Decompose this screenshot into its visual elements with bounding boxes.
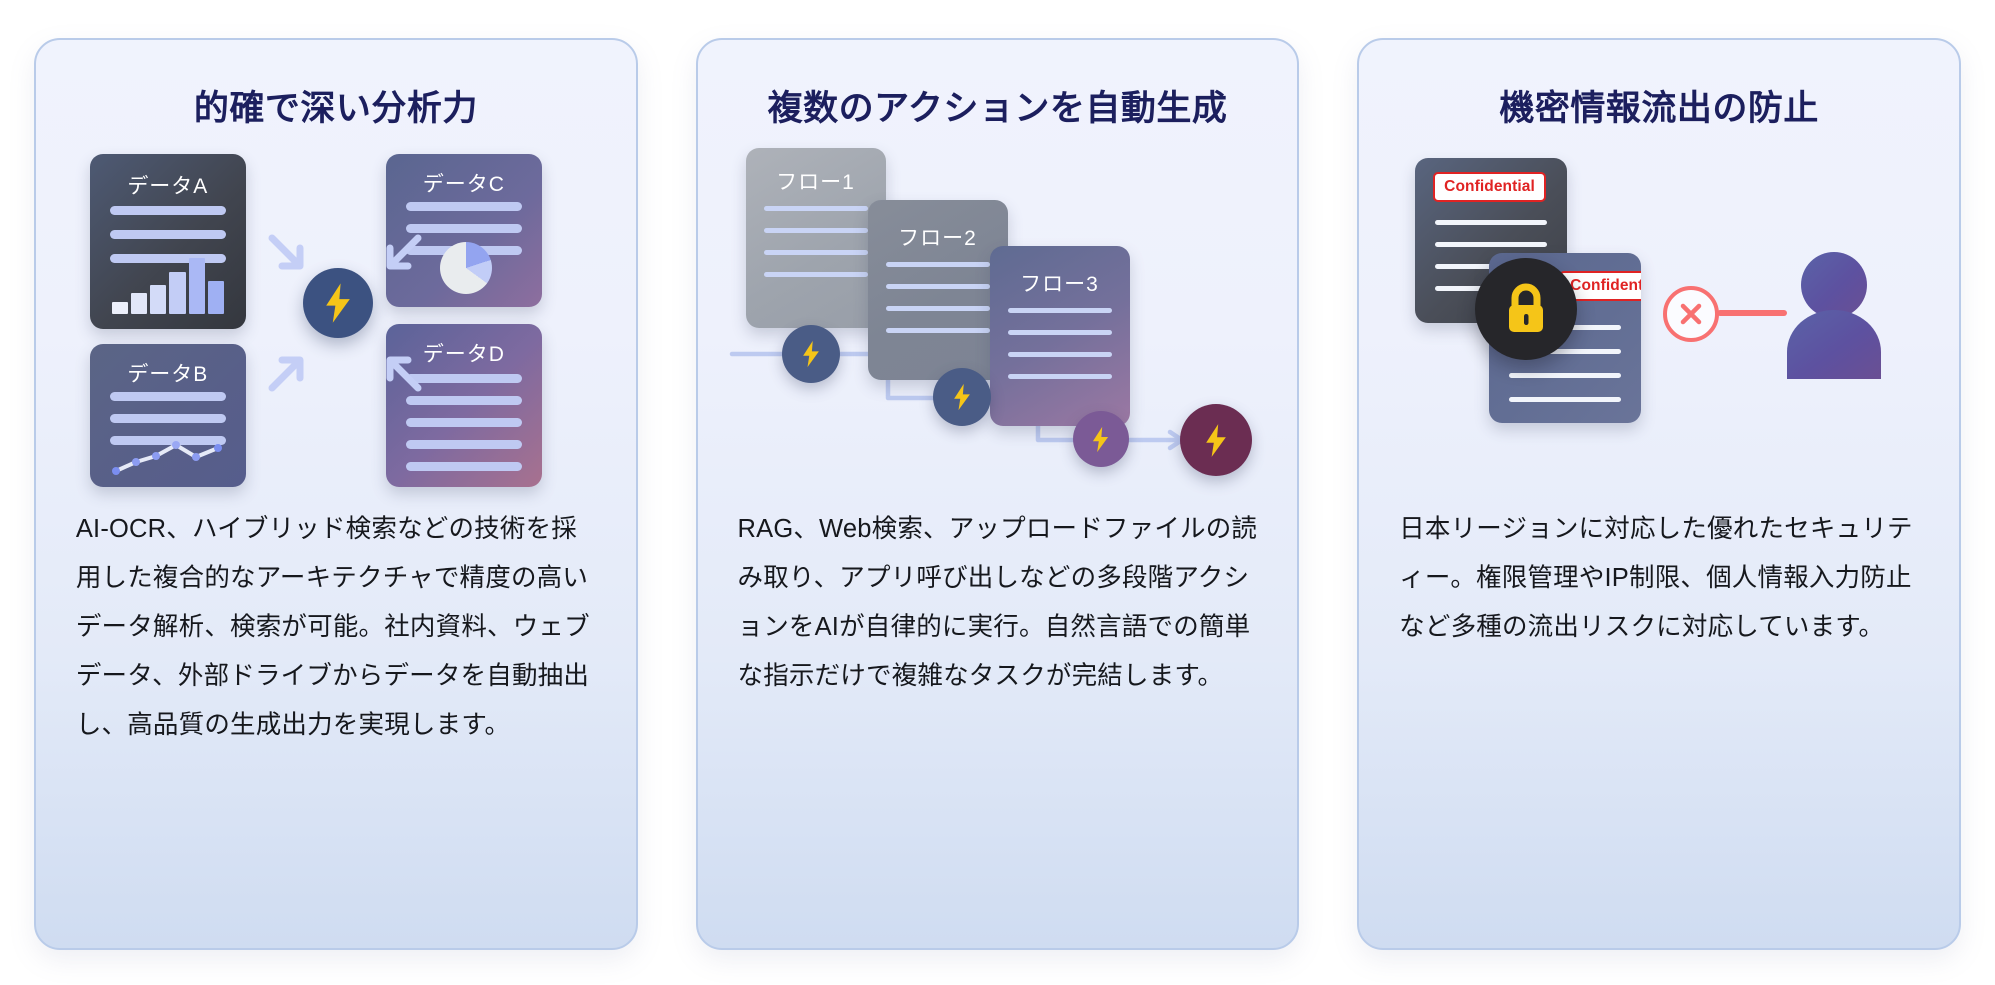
confidential-badge: Confidential <box>1433 172 1546 202</box>
arrow-converge-bottom-left-icon <box>262 346 314 398</box>
data-tile-a-label: データA <box>90 170 246 200</box>
doc-line <box>886 262 990 267</box>
data-tile-c-label: データC <box>386 168 542 198</box>
doc-line <box>406 202 522 211</box>
line-chart-icon <box>108 431 228 477</box>
pie-chart-icon <box>440 242 492 294</box>
doc-line <box>406 462 522 471</box>
flow-node-4 <box>1180 404 1252 476</box>
flow-tile-3: フロー3 <box>990 246 1130 426</box>
doc-line <box>764 250 868 255</box>
feature-card-analysis: 的確で深い分析力 データA データB <box>34 38 638 950</box>
doc-line <box>1008 374 1112 379</box>
feature-card-actions: 複数のアクションを自動生成 フロー1 フロー2 <box>696 38 1300 950</box>
doc-line <box>110 230 226 239</box>
doc-line <box>886 306 990 311</box>
flow-tile-2-label: フロー2 <box>868 222 1008 252</box>
doc-line <box>1435 242 1547 247</box>
bar-chart-icon <box>112 256 224 314</box>
doc-line <box>406 440 522 449</box>
flow-node-2 <box>933 368 991 426</box>
flow-node-1 <box>782 325 840 383</box>
data-tile-a: データA <box>90 154 246 329</box>
user-icon <box>1779 248 1889 383</box>
card-body-analysis: AI-OCR、ハイブリッド検索などの技術を採用した複合的なアーキテクチャで精度の… <box>76 505 596 750</box>
card-title-actions: 複数のアクションを自動生成 <box>768 88 1228 130</box>
lightning-bolt-icon <box>800 340 822 368</box>
analysis-hub <box>303 268 373 338</box>
doc-line <box>1008 352 1112 357</box>
doc-line <box>1509 373 1621 378</box>
security-illustration: Confidential Confidential <box>1379 148 1939 493</box>
doc-line <box>1509 397 1621 402</box>
blocked-link <box>1717 310 1787 316</box>
doc-line <box>1008 330 1112 335</box>
card-body-actions: RAG、Web検索、アップロードファイルの読み取り、アプリ呼び出しなどの多段階ア… <box>738 505 1258 701</box>
lightning-bolt-icon <box>951 383 973 411</box>
arrow-converge-bottom-right-icon <box>376 346 428 398</box>
doc-line <box>110 392 226 401</box>
data-tile-b-label: データB <box>90 358 246 388</box>
doc-line <box>764 272 868 277</box>
flow-tile-2: フロー2 <box>868 200 1008 380</box>
flow-tile-3-label: フロー3 <box>990 268 1130 298</box>
x-circle-icon <box>1677 300 1705 328</box>
card-title-security: 機密情報流出の防止 <box>1499 88 1819 130</box>
card-body-security: 日本リージョンに対応した優れたセキュリティー。権限管理やIP制限、個人情報入力防… <box>1399 505 1919 652</box>
doc-line <box>886 284 990 289</box>
doc-line <box>764 206 868 211</box>
doc-line <box>110 414 226 423</box>
doc-line <box>406 418 522 427</box>
feature-card-board: 的確で深い分析力 データA データB <box>0 0 1995 985</box>
arrow-converge-top-left-icon <box>262 228 314 280</box>
lightning-bolt-icon <box>321 282 355 324</box>
arrow-converge-top-right-icon <box>376 228 428 280</box>
lock-badge <box>1475 258 1577 360</box>
doc-line <box>764 228 868 233</box>
block-indicator <box>1663 286 1719 342</box>
doc-line <box>110 206 226 215</box>
lightning-bolt-icon <box>1090 426 1111 453</box>
analysis-illustration: データA データB <box>56 148 616 493</box>
flow-tile-1-label: フロー1 <box>746 166 886 196</box>
doc-line <box>1008 308 1112 313</box>
actions-illustration: フロー1 フロー2 フロー3 <box>718 148 1278 493</box>
doc-line <box>1435 220 1547 225</box>
flow-tile-1: フロー1 <box>746 148 886 328</box>
card-title-analysis: 的確で深い分析力 <box>194 88 478 130</box>
lock-icon <box>1502 282 1550 336</box>
flow-node-3 <box>1073 411 1129 467</box>
lightning-bolt-icon <box>1202 423 1230 458</box>
doc-line <box>886 328 990 333</box>
data-tile-b: データB <box>90 344 246 487</box>
feature-card-security: 機密情報流出の防止 Confidential Confidential <box>1357 38 1961 950</box>
